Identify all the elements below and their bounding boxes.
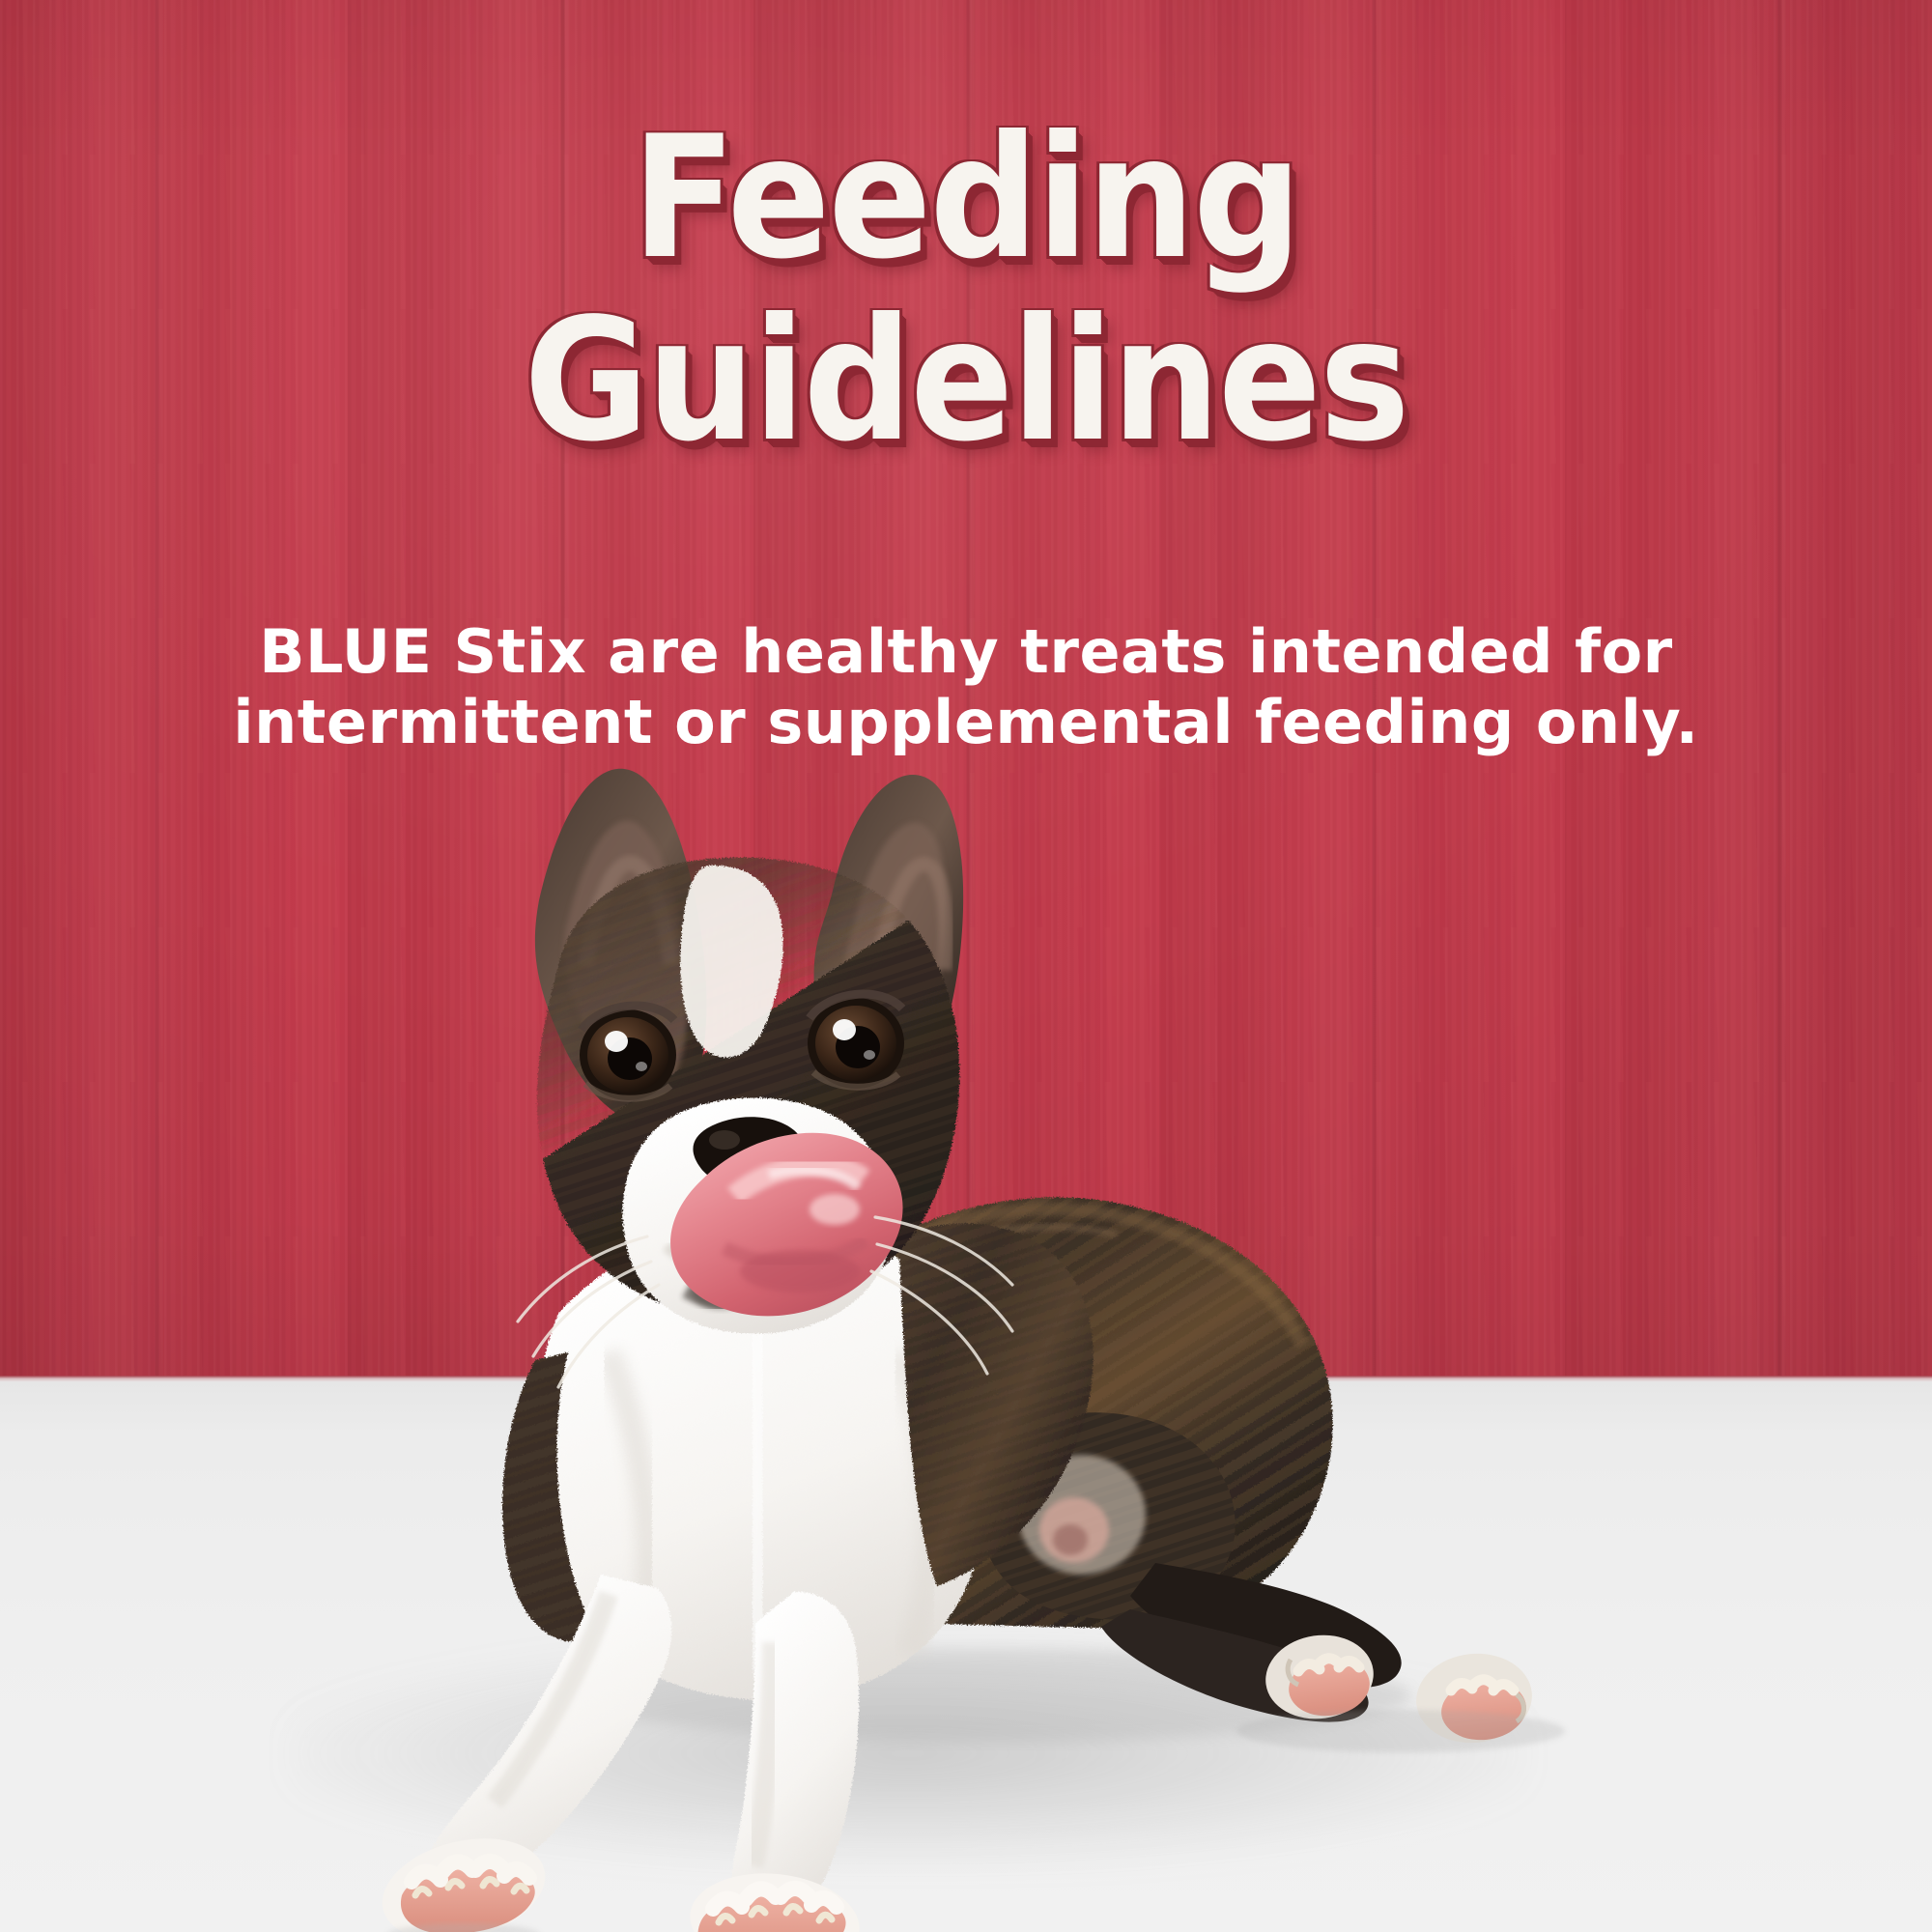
page-title: Feeding Guidelines	[0, 114, 1932, 466]
page-title-line-1: Feeding	[0, 114, 1932, 283]
feeding-guidelines-panel: Feeding Guidelines BLUE Stix are healthy…	[0, 0, 1932, 1932]
dog-front-legs	[371, 1575, 864, 1932]
page-title-line-2: Guidelines	[0, 297, 1932, 466]
front-paw-right	[685, 1865, 864, 1932]
dog-illustration	[319, 676, 1594, 1932]
dog-photo	[319, 676, 1594, 1932]
